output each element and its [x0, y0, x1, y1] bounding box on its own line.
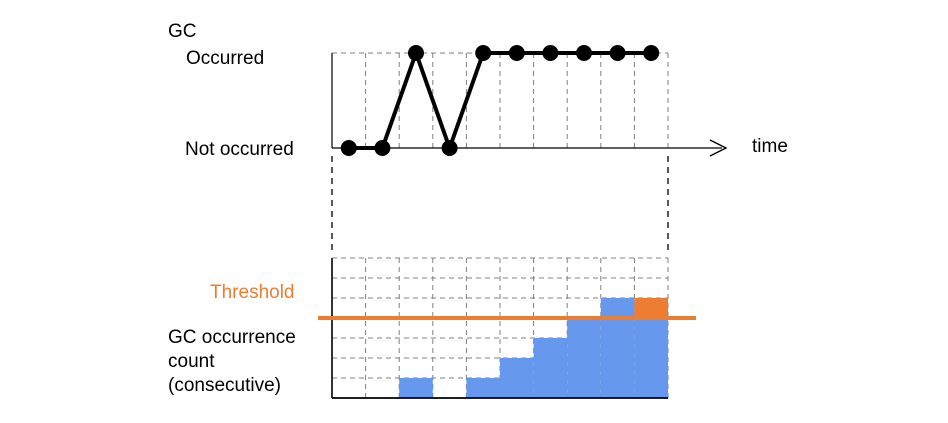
bar-segment — [601, 358, 635, 378]
bar-segment-above-threshold — [601, 298, 635, 318]
bar-segment — [399, 378, 433, 398]
bar-segment — [634, 318, 668, 338]
connector-group — [332, 156, 668, 254]
bar-segment — [567, 338, 601, 358]
bar-segment — [601, 338, 635, 358]
data-point-marker — [408, 45, 424, 61]
bar-segment — [601, 378, 635, 398]
bar-segment — [534, 338, 568, 358]
bottom-chart-group — [318, 258, 696, 398]
bar-segment — [500, 358, 534, 378]
bar-segment — [567, 358, 601, 378]
bar-segment — [534, 358, 568, 378]
bar-segment — [634, 338, 668, 358]
bar-segment — [567, 318, 601, 338]
data-point-marker — [643, 45, 659, 61]
bar-segment — [500, 378, 534, 398]
data-point-marker — [341, 140, 357, 156]
top-chart-group — [332, 45, 726, 156]
data-point-marker — [610, 45, 626, 61]
bar-segment — [466, 378, 500, 398]
diagram-artwork — [0, 0, 948, 423]
data-point-marker — [542, 45, 558, 61]
data-point-marker — [442, 140, 458, 156]
bar-segment — [634, 378, 668, 398]
data-point-marker — [576, 45, 592, 61]
diagram-canvas: GC Occurred Not occurred Threshold GC oc… — [0, 0, 948, 423]
data-point-marker — [509, 45, 525, 61]
bar-segment-above-threshold — [634, 298, 668, 318]
bar-segment — [601, 318, 635, 338]
bar-segment — [567, 378, 601, 398]
data-point-marker — [475, 45, 491, 61]
bar-segment — [534, 378, 568, 398]
data-point-marker — [374, 140, 390, 156]
bar-segment — [634, 358, 668, 378]
